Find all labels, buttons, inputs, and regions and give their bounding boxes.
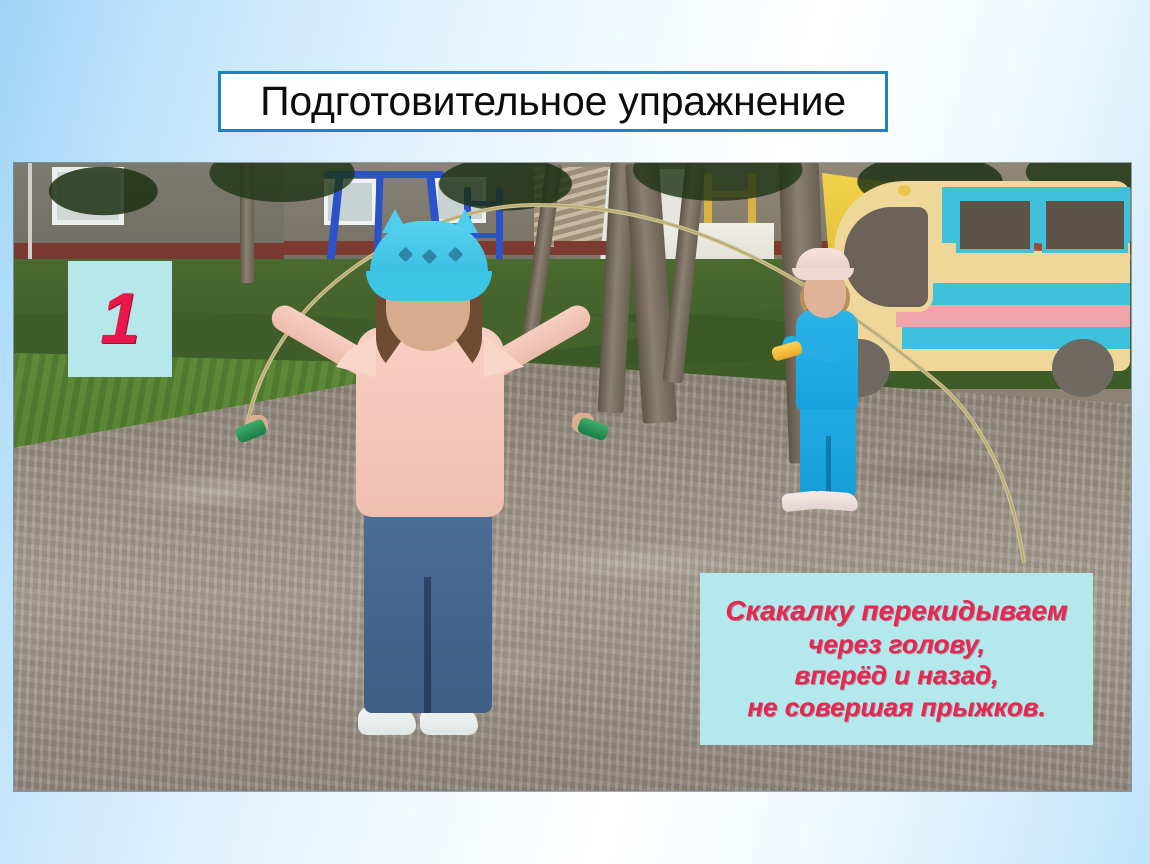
bus-headlight [898,185,911,196]
slide-title-box: Подготовительное упражнение [218,71,888,132]
child-background-shoe-right [813,490,858,511]
child-foreground-jeans [364,505,492,713]
rope-handle-green-right [576,416,610,441]
photo-illustration: 1 Скакалку перекидываем через голову, вп… [14,163,1131,791]
caption-line-3: вперёд и назад, [795,660,999,692]
caption-line-4: не совершая прыжков. [747,692,1045,724]
instruction-caption-box: Скакалку перекидываем через голову, впер… [700,573,1093,745]
page-title: Подготовительное упражнение [260,81,846,122]
child-foreground [282,187,622,687]
caption-line-1: Скакалку перекидываем [725,594,1067,628]
caption-line-2: через голову, [808,629,985,661]
bus-window-1 [956,197,1034,253]
child-background-cap-brim [792,268,854,280]
bus-wheel-rear [1052,339,1114,397]
bus-window-2 [1042,197,1128,253]
child-background-legs [800,402,856,496]
child-background [774,248,884,518]
step-number-value: 1 [100,283,140,355]
child-foreground-sweater [356,327,504,517]
slide-canvas: Подготовительное упражнение [0,0,1150,864]
bus-pink-stripe [896,305,1130,327]
cap-brim [366,271,492,301]
step-number-badge: 1 [68,261,172,377]
